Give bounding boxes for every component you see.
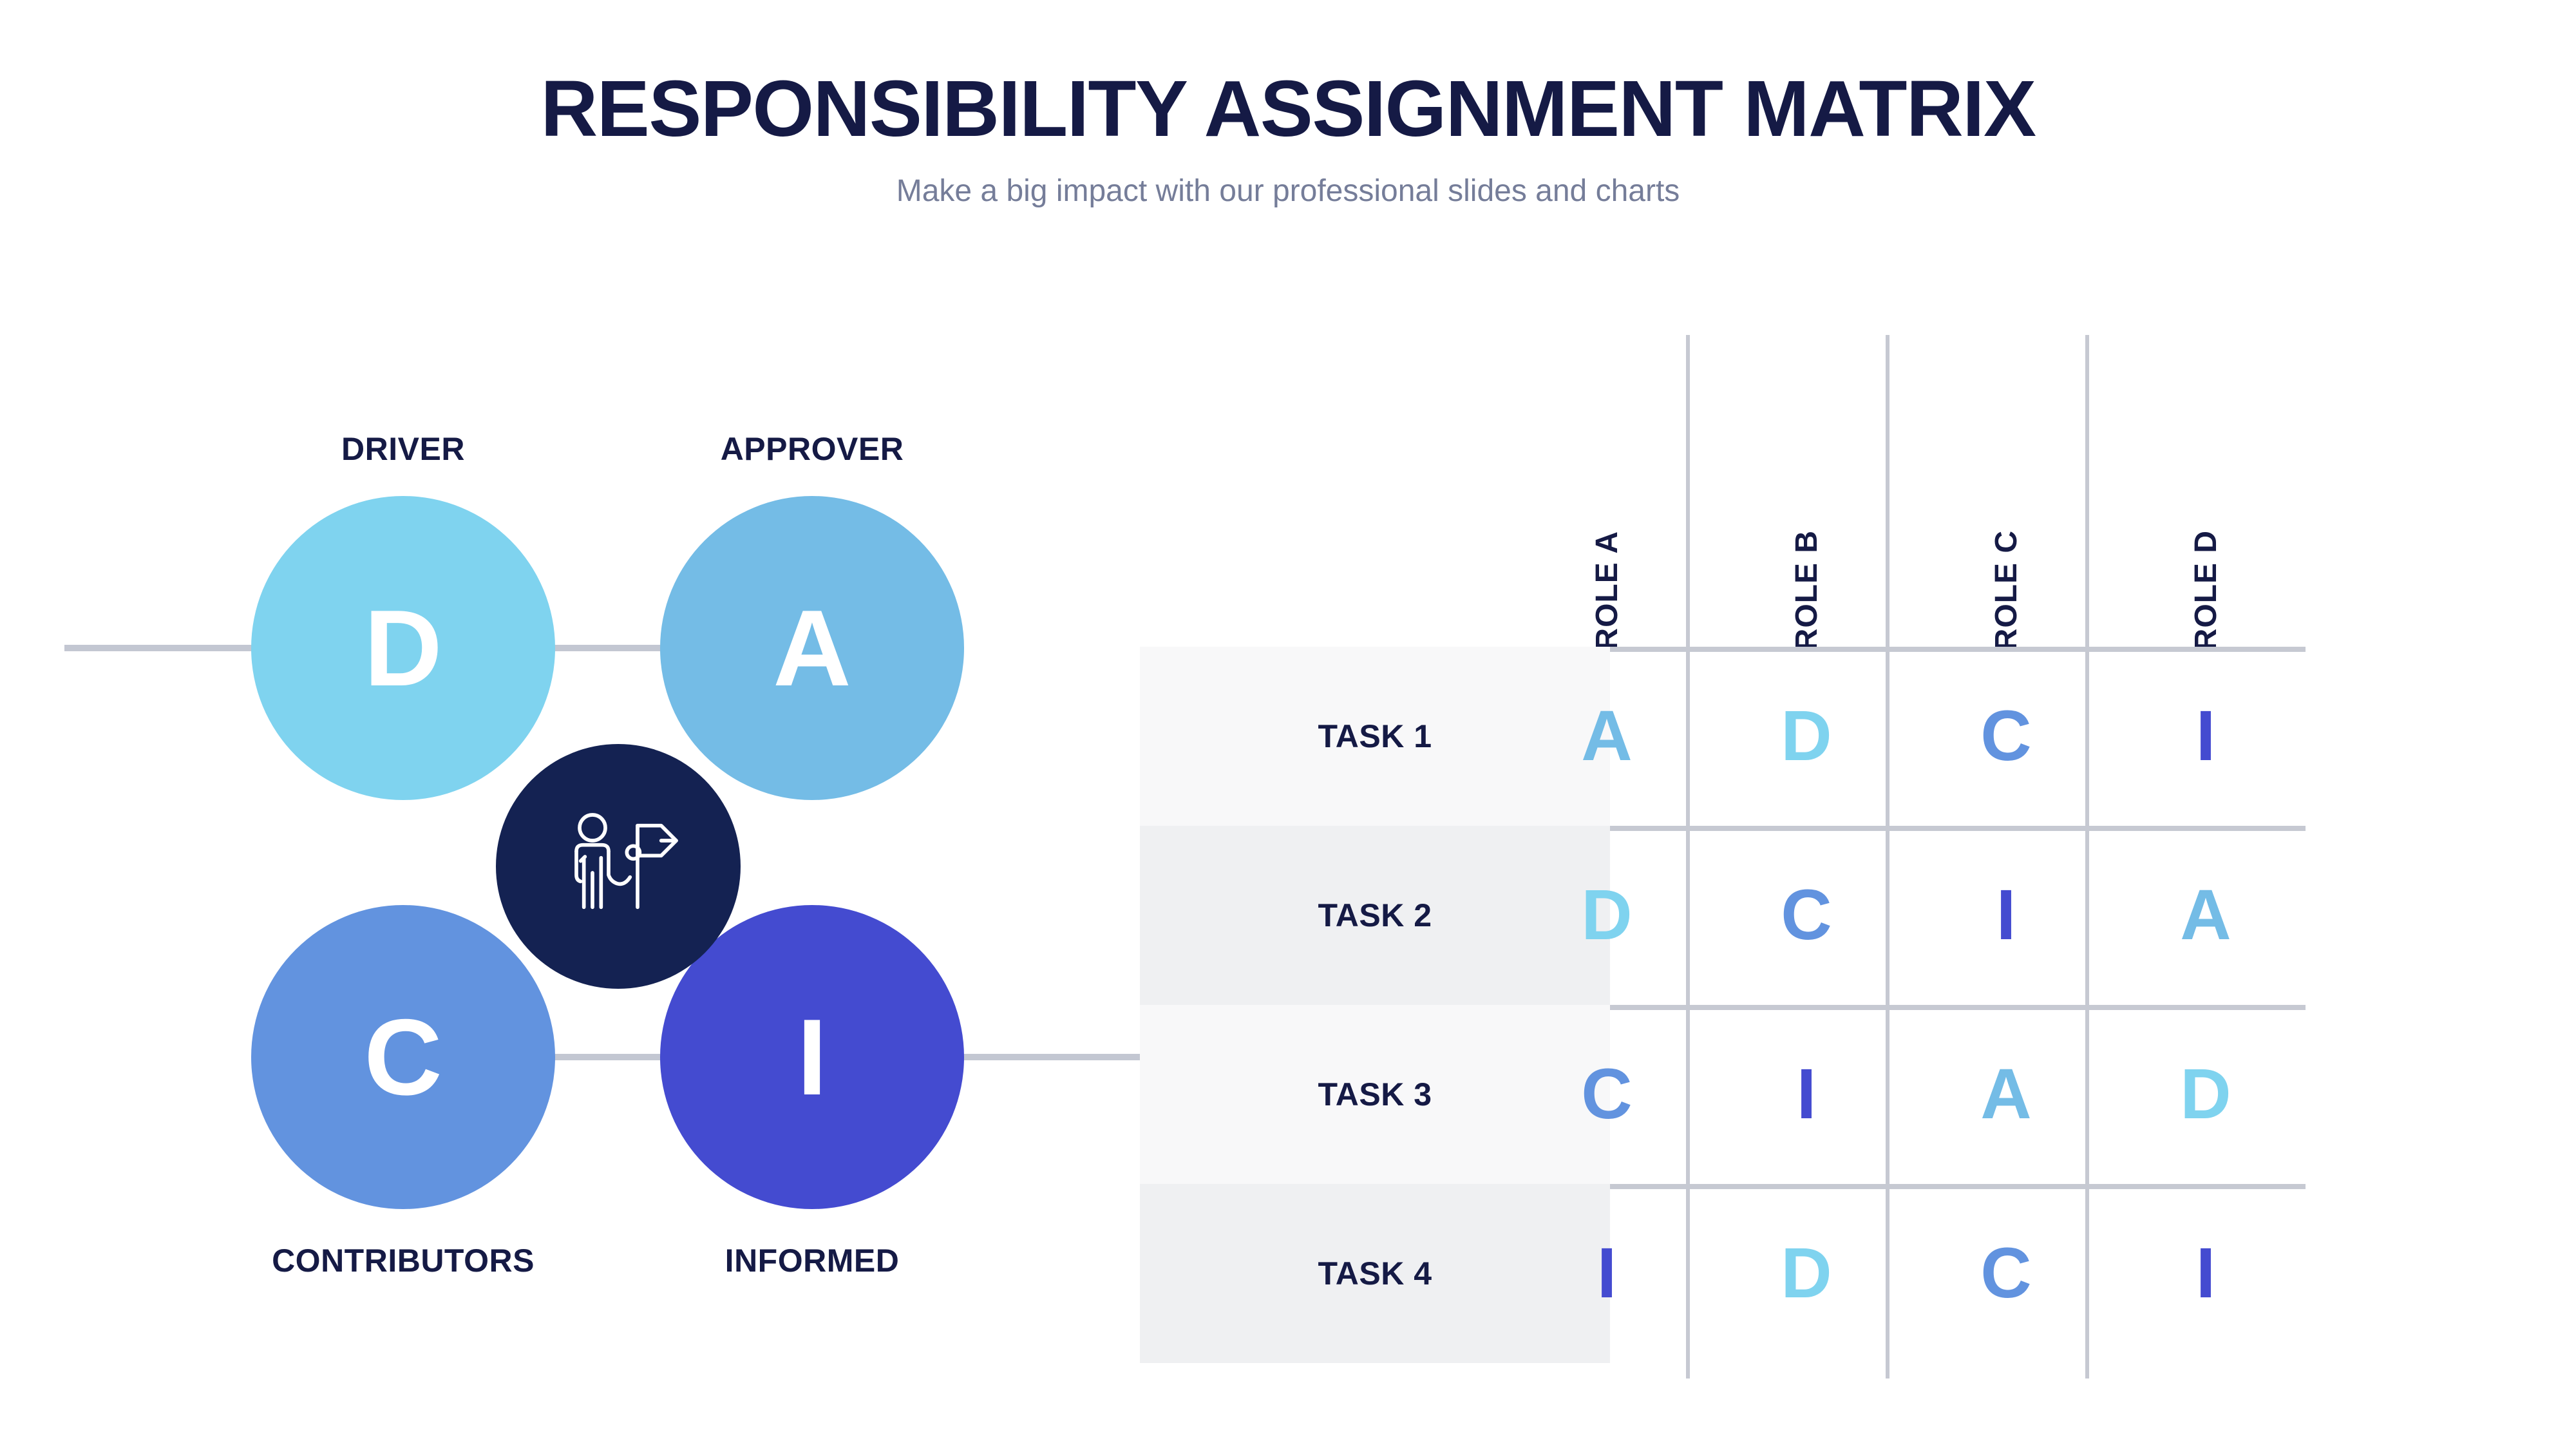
daci-circle-approver[interactable]: A [660,496,964,800]
daci-label-driver: DRIVER [251,430,555,468]
center-hub [496,744,741,989]
matrix-cell[interactable]: I [1507,1184,1707,1363]
daci-circle-letter-c: C [364,1003,442,1111]
matrix-cell[interactable]: A [1906,1005,2106,1184]
matrix-cell[interactable]: I [2106,1184,2306,1363]
daci-diagram: D A C I DRIVER AP [116,361,1095,1327]
daci-circle-letter-a: A [773,594,851,702]
matrix-cell[interactable]: I [2106,647,2306,826]
matrix-cell[interactable]: A [2106,826,2306,1005]
daci-circle-contributors[interactable]: C [251,905,555,1209]
daci-circle-letter-d: D [364,594,442,702]
connector-line-right [958,1054,1164,1060]
matrix-cell[interactable]: C [1507,1005,1707,1184]
column-header-role-a[interactable]: ROLE A [1507,335,1707,651]
header: RESPONSIBILITY ASSIGNMENT MATRIX Make a … [0,0,2576,209]
page-title: RESPONSIBILITY ASSIGNMENT MATRIX [0,0,2576,149]
matrix-cell[interactable]: D [2106,1005,2306,1184]
column-header-label: ROLE C [1989,530,2024,651]
page-subtitle: Make a big impact with our professional … [0,149,2576,209]
column-header-label: ROLE D [2188,530,2224,651]
matrix-cell[interactable]: D [1707,647,1906,826]
column-header-role-c[interactable]: ROLE C [1906,335,2106,651]
column-header-role-b[interactable]: ROLE B [1707,335,1906,651]
daci-circle-driver[interactable]: D [251,496,555,800]
daci-label-approver: APPROVER [660,430,964,468]
matrix-cell[interactable]: C [1906,1184,2106,1363]
matrix-cell[interactable]: A [1507,647,1707,826]
connector-line-top [549,645,668,651]
matrix-cell[interactable]: I [1906,826,2106,1005]
daci-label-contributors: CONTRIBUTORS [251,1242,555,1279]
matrix-cell[interactable]: I [1707,1005,1906,1184]
matrix-cell[interactable]: C [1906,647,2106,826]
daci-circle-letter-i: I [797,1003,828,1111]
responsibility-matrix-table: ROLE A ROLE B ROLE C ROLE D TASK 1 TASK … [1140,335,2428,1378]
column-header-label: ROLE B [1789,530,1824,651]
matrix-cell[interactable]: C [1707,826,1906,1005]
column-header-role-d[interactable]: ROLE D [2106,335,2306,651]
daci-label-informed: INFORMED [660,1242,964,1279]
matrix-cell[interactable]: D [1707,1184,1906,1363]
matrix-cell[interactable]: D [1507,826,1707,1005]
column-header-label: ROLE A [1589,531,1625,651]
person-with-flag-icon [554,802,683,931]
connector-line-left [64,645,258,651]
connector-line-bottom [549,1054,668,1060]
